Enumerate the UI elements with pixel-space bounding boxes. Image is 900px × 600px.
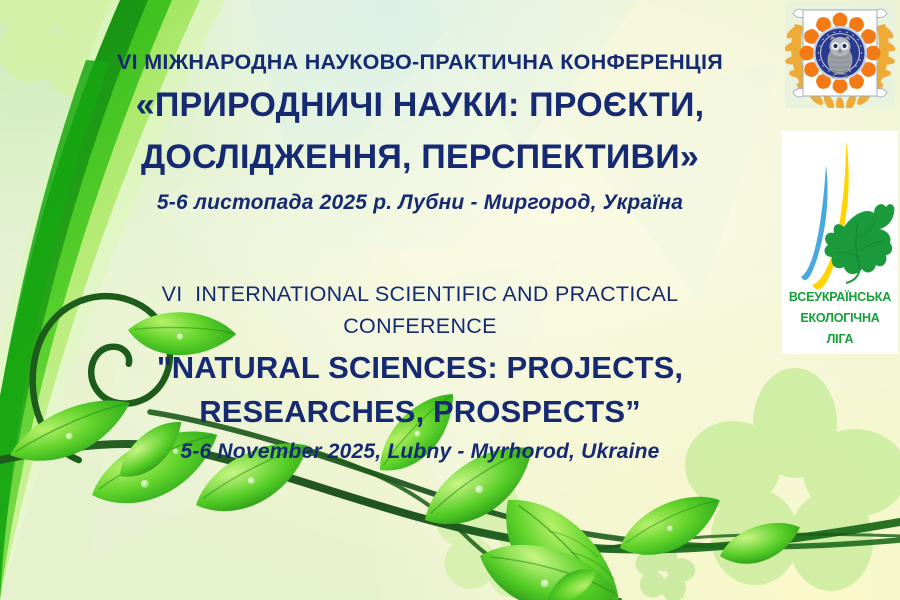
banner-text-block: VI МІЖНАРОДНА НАУКОВО-ПРАКТИЧНА КОНФЕРЕН…: [60, 0, 780, 600]
conference-banner: VI МІЖНАРОДНА НАУКОВО-ПРАКТИЧНА КОНФЕРЕН…: [0, 0, 900, 600]
english-title-line1: "NATURAL SCIENCES: PROJECTS,: [60, 352, 780, 383]
ukrainian-kicker: VI МІЖНАРОДНА НАУКОВО-ПРАКТИЧНА КОНФЕРЕН…: [60, 52, 780, 74]
eco-league-logo: ВСЕУКРАЇНСЬКА ЕКОЛОГІЧНА ЛІГА: [782, 131, 898, 354]
eco-league-label-line2: ЕКОЛОГІЧНА: [782, 312, 898, 325]
ukrainian-title-line1: «ПРИРОДНИЧІ НАУКИ: ПРОЄКТИ,: [60, 88, 780, 122]
owl-coat-of-arms-icon: [785, 2, 895, 108]
ukrainian-date-location: 5-6 листопада 2025 р. Лубни - Миргород, …: [60, 192, 780, 213]
eco-league-label-line3: ЛІГА: [782, 333, 898, 346]
english-kicker-line1: VI INTERNATIONAL SCIENTIFIC AND PRACTICA…: [60, 284, 780, 306]
ukrainian-title-line2: ДОСЛІДЖЕННЯ, ПЕРСПЕКТИВИ»: [60, 140, 780, 174]
eco-league-label-line1: ВСЕУКРАЇНСЬКА: [782, 291, 898, 304]
english-title-line2: RESEARCHES, PROSPECTS”: [60, 396, 780, 427]
owl-emblem-logo: [785, 2, 895, 108]
english-date-location: 5-6 November 2025, Lubny - Myrhorod, Ukr…: [60, 441, 780, 462]
english-kicker-line2: CONFERENCE: [60, 316, 780, 338]
